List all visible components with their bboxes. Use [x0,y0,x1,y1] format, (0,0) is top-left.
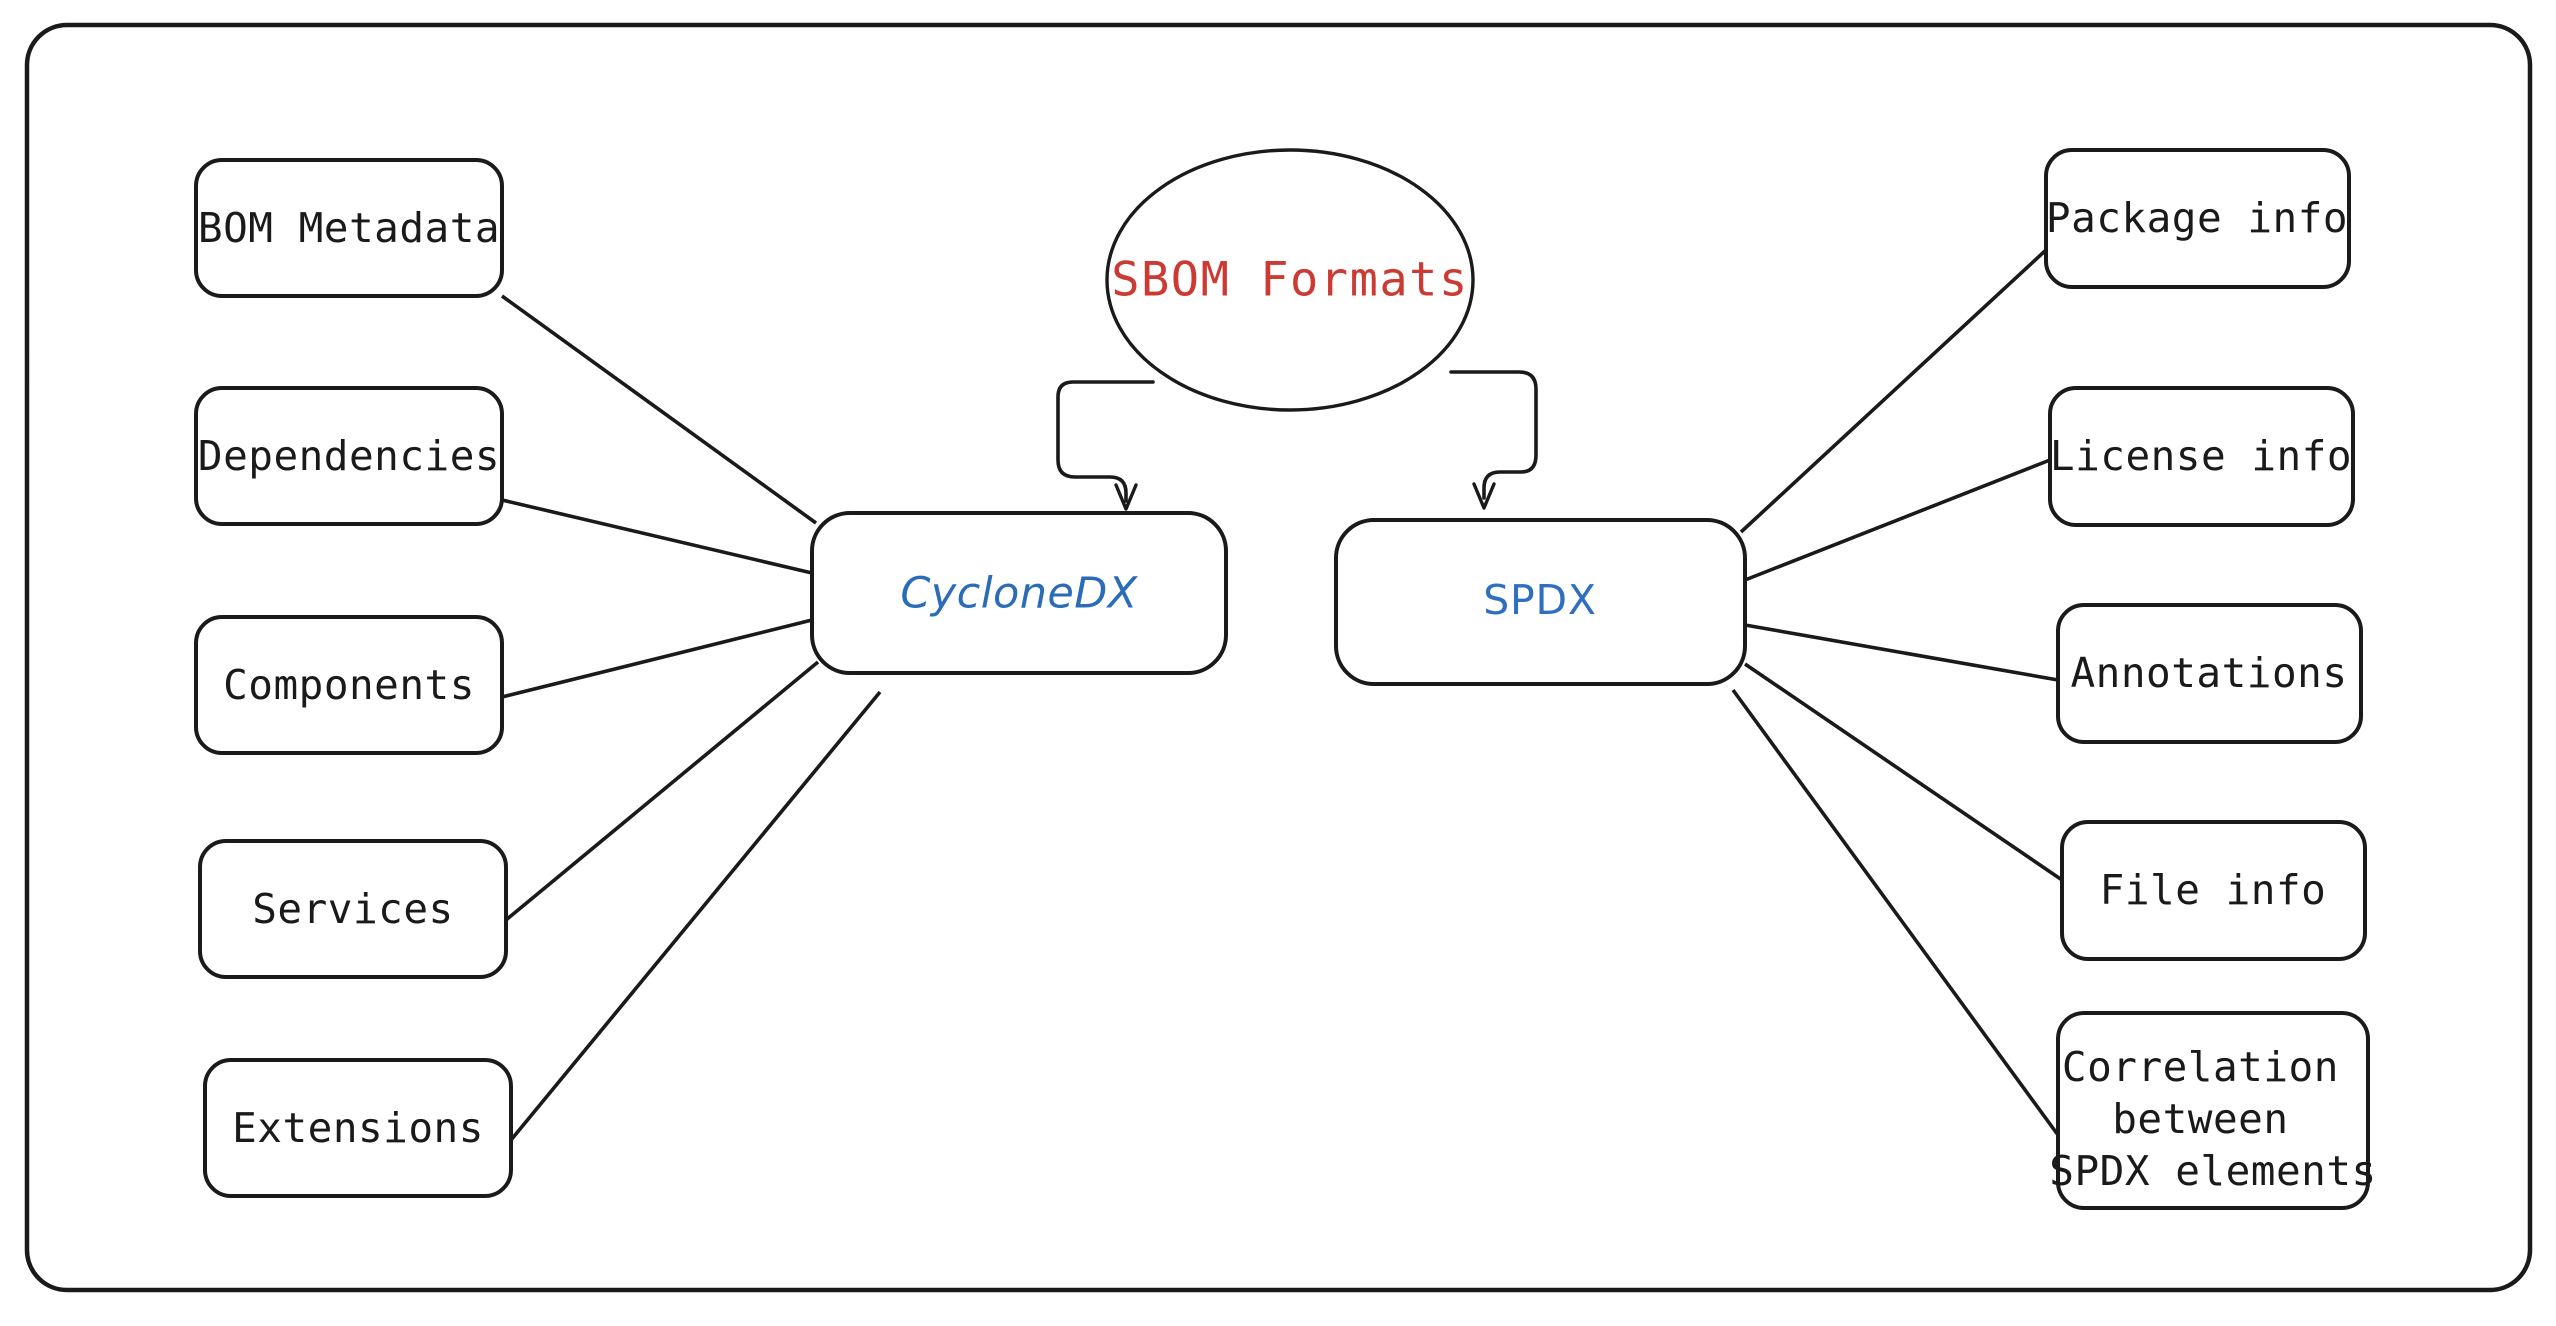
node-extensions-label: Extensions [232,1104,484,1152]
diagram-root: SBOM Formats CycloneDX SPDX BOM Metadata… [0,0,2556,1326]
format-node-spdx[interactable]: SPDX [1336,520,1745,684]
node-annotations[interactable]: Annotations [2058,605,2361,742]
root-node-label: SBOM Formats [1111,253,1469,308]
node-dependencies[interactable]: Dependencies [196,388,502,524]
node-correlation-spdx-elements[interactable]: Correlation between SPDX elements [2049,1013,2376,1208]
root-node-sbom-formats[interactable]: SBOM Formats [1107,150,1473,410]
correlation-line-2: between [2112,1095,2288,1143]
correlation-line-3: SPDX elements [2049,1147,2376,1195]
node-license-info-label: License info [2050,432,2352,480]
node-services[interactable]: Services [200,841,506,977]
node-bom-metadata-label: BOM Metadata [198,204,500,252]
node-dependencies-label: Dependencies [198,432,500,480]
node-components[interactable]: Components [196,617,502,753]
node-components-label: Components [223,661,475,709]
node-package-info[interactable]: Package info [2046,150,2349,287]
node-services-label: Services [252,885,453,933]
format-node-cyclonedx[interactable]: CycloneDX [812,513,1226,673]
node-package-info-label: Package info [2046,194,2348,242]
node-file-info[interactable]: File info [2062,822,2365,959]
node-extensions[interactable]: Extensions [205,1060,511,1196]
diagram-canvas: SBOM Formats CycloneDX SPDX BOM Metadata… [0,0,2556,1326]
node-file-info-label: File info [2100,866,2327,914]
node-annotations-label: Annotations [2070,649,2347,697]
format-node-spdx-label: SPDX [1483,576,1597,624]
node-bom-metadata[interactable]: BOM Metadata [196,160,502,296]
node-license-info[interactable]: License info [2050,388,2353,525]
format-node-cyclonedx-label: CycloneDX [900,569,1138,619]
correlation-line-1: Correlation [2062,1043,2339,1091]
